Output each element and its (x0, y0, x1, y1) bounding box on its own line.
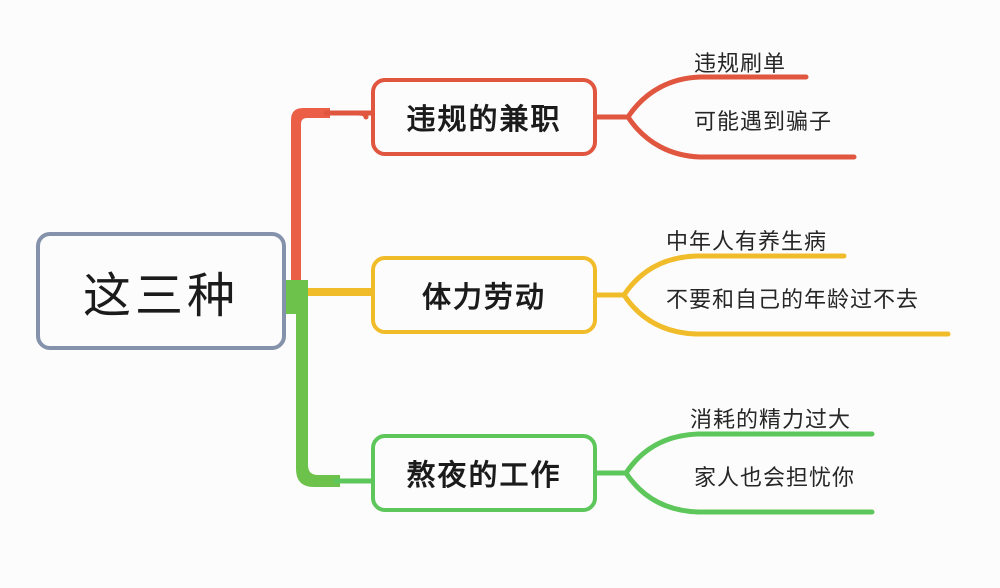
branch-node-1-label: 违规的兼职 (406, 96, 561, 138)
leaf-label-1-2[interactable]: 可能遇到骗子 (694, 104, 832, 136)
trunk-connector-branch-1 (291, 108, 330, 292)
root-node[interactable]: 这三种 (36, 232, 286, 350)
leaf-label-3-1[interactable]: 消耗的精力过大 (690, 402, 851, 434)
root-node-label: 这三种 (83, 256, 239, 326)
root-junction-block (285, 280, 308, 314)
branch-node-2-label: 体力劳动 (422, 274, 546, 316)
branch-node-1[interactable]: 违规的兼职 (371, 78, 597, 156)
branch-node-3[interactable]: 熬夜的工作 (371, 434, 597, 512)
mind-map-canvas: 这三种 违规的兼职 体力劳动 熬夜的工作 违规刷单 可能遇到骗子 中年人有养生病… (0, 0, 1000, 588)
leaf-label-1-1[interactable]: 违规刷单 (694, 46, 786, 78)
leaf-label-2-1[interactable]: 中年人有养生病 (666, 224, 827, 256)
leaf-label-3-2[interactable]: 家人也会担忧你 (694, 460, 855, 492)
branch-node-3-label: 熬夜的工作 (406, 452, 561, 494)
branch-node-2[interactable]: 体力劳动 (371, 256, 597, 334)
leaf-label-2-2[interactable]: 不要和自己的年龄过不去 (666, 282, 919, 314)
